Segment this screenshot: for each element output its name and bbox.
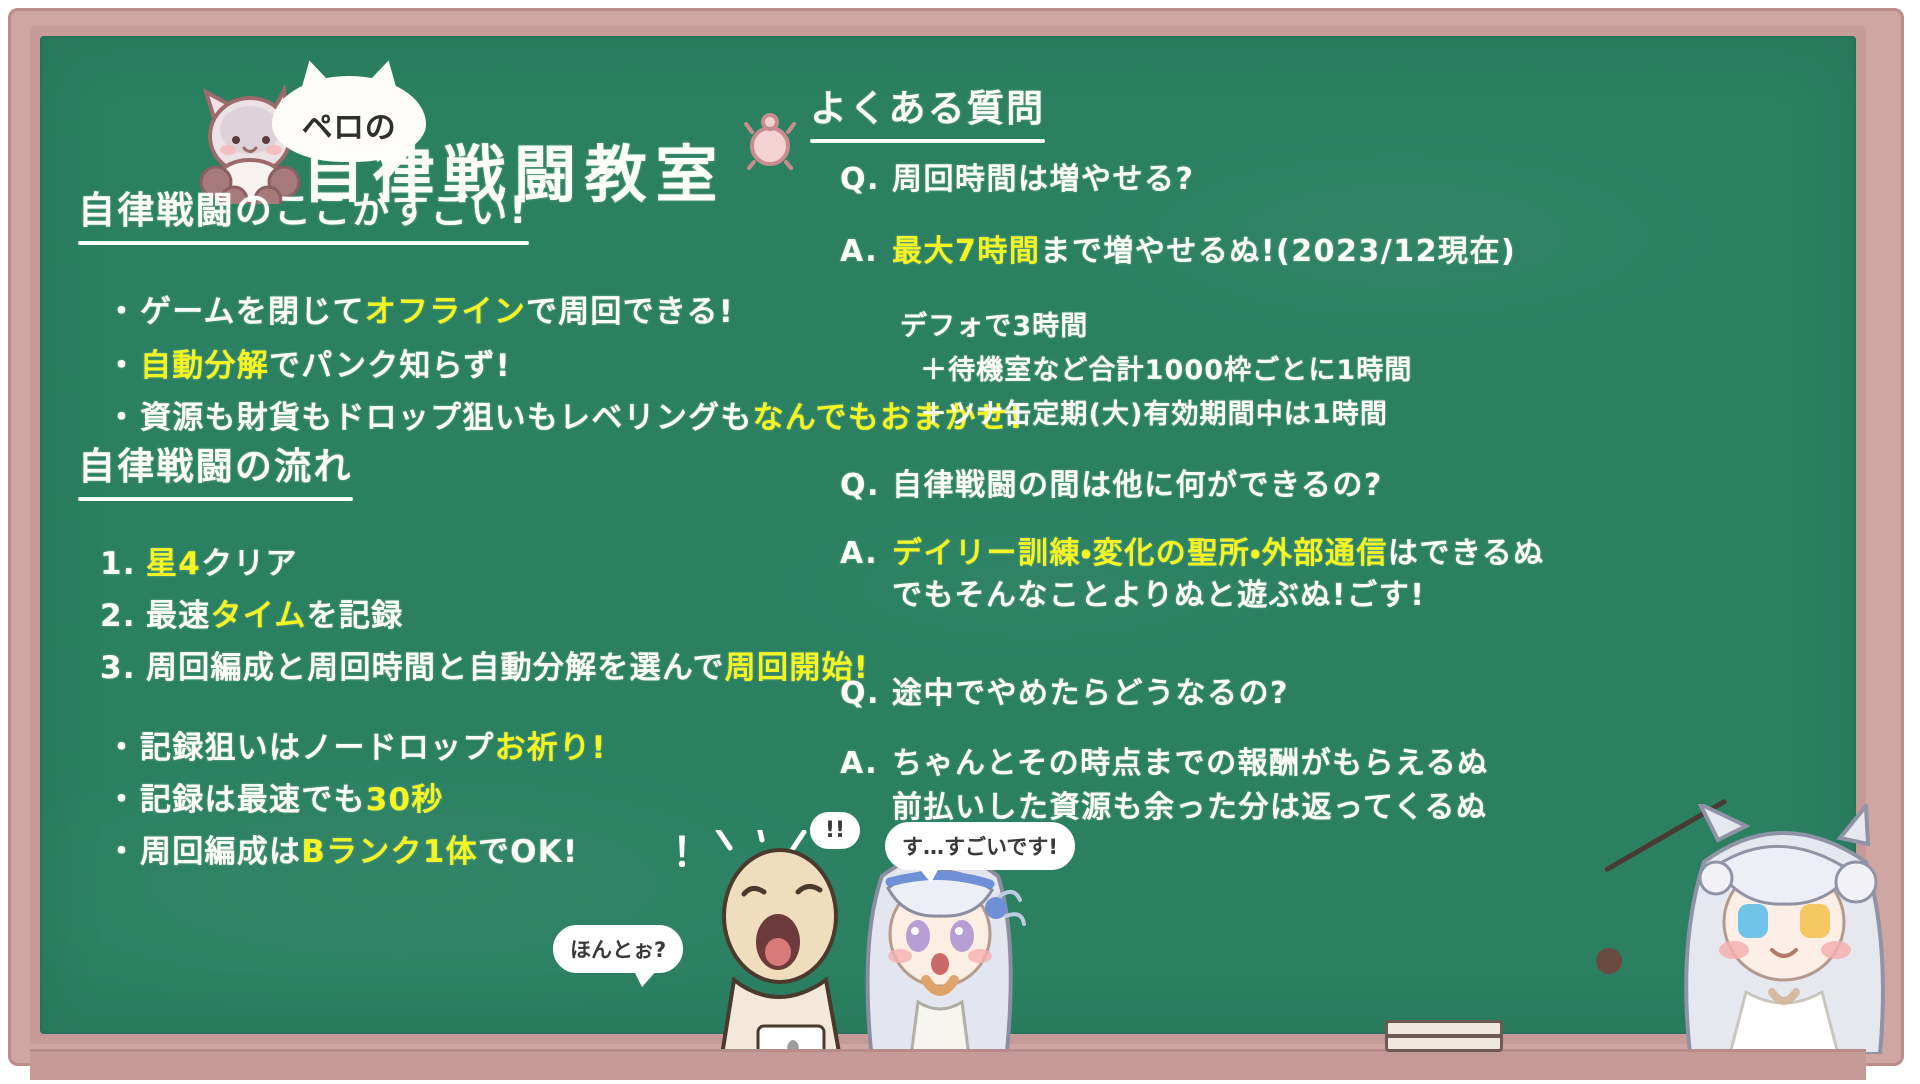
list-item: ・周回編成はBランク1体でOK! bbox=[106, 826, 578, 871]
title-underline bbox=[810, 139, 1045, 143]
text-pre: 記録狙いはノードロップ bbox=[140, 730, 495, 766]
text-highlight: オフライン bbox=[365, 294, 526, 330]
faq-answer: A.最大7時間まで増やせるぬ!(2023/12現在) bbox=[840, 226, 1516, 270]
speech-bubble-exclaim: !! bbox=[810, 812, 860, 849]
answer-note: デフォで3時間 bbox=[900, 304, 1088, 343]
speech-bubble-sugoi: す…すごいです! bbox=[885, 822, 1075, 870]
text-pre: ゲームを閉じて bbox=[140, 294, 365, 330]
text-pre: 資源も財貨もドロップ狙いもレベリングも bbox=[140, 400, 753, 436]
text-pre: 周回編成と周回時間と自動分解を選んで bbox=[146, 650, 725, 686]
bullet-marker: ・ bbox=[106, 826, 140, 871]
text-post: まで増やせるぬ!(2023/12現在) bbox=[1040, 234, 1516, 269]
answer-tag: A. bbox=[840, 234, 892, 269]
question-text: 自律戦闘の間は他に何ができるの? bbox=[892, 468, 1383, 503]
faq-answer-line2: でもそんなことよりぬと遊ぶぬ!ごす! bbox=[892, 570, 1425, 614]
faq-title-text: よくある質問 bbox=[810, 87, 1045, 130]
text-pre: 最速 bbox=[146, 598, 210, 634]
faq-answer-line2: 前払いした資源も余った分は返ってくるぬ bbox=[892, 782, 1488, 826]
answer-tag: A. bbox=[840, 536, 892, 571]
question-text: 途中でやめたらどうなるの? bbox=[892, 676, 1289, 711]
text-pre: 周回編成は bbox=[140, 834, 301, 870]
text-post: クリア bbox=[201, 546, 298, 582]
number-marker: 2. bbox=[100, 598, 146, 634]
list-item: ・記録狙いはノードロップお祈り! bbox=[106, 722, 607, 767]
chalkboard-eraser bbox=[1385, 1020, 1503, 1052]
text-highlight: デイリー訓練・変化の聖所・外部通信 bbox=[892, 536, 1388, 571]
text-highlight: Bランク1体 bbox=[301, 834, 478, 870]
left-section1-title-text: 自律戦闘のここがすごい! bbox=[78, 189, 529, 232]
sensei-character bbox=[1660, 804, 1910, 1054]
text-pre: 記録は最速でも bbox=[140, 782, 366, 818]
left-section2-title-text: 自律戦闘の流れ bbox=[78, 445, 353, 488]
list-item: ・資源も財貨もドロップ狙いもレベリングもなんでもおまかせ! bbox=[106, 392, 1024, 437]
chalkboard-poster: ペロの 自律戦闘教室 自律戦闘のここがすごい! ・ゲームを閉じてオフラインで周回… bbox=[0, 0, 1920, 1080]
bullet-marker: ・ bbox=[106, 392, 140, 437]
answer-tag: A. bbox=[840, 746, 892, 781]
faq-answer: A.デイリー訓練・変化の聖所・外部通信はできるぬ bbox=[840, 528, 1545, 572]
chalk-tray bbox=[30, 1049, 1866, 1080]
number-marker: 3. bbox=[100, 650, 146, 686]
answer-note: ＋待機室など合計1000枠ごとに1時間 bbox=[920, 348, 1412, 387]
list-item: ・ゲームを閉じてオフラインで周回できる! bbox=[106, 286, 734, 331]
faq-question: Q.自律戦闘の間は他に何ができるの? bbox=[840, 460, 1383, 504]
text-highlight: 最大7時間 bbox=[892, 234, 1040, 269]
text-post: を記録 bbox=[307, 598, 404, 634]
text-highlight: 星4 bbox=[146, 546, 201, 582]
question-text: 周回時間は増やせる? bbox=[892, 162, 1194, 197]
question-tag: Q. bbox=[840, 676, 892, 711]
text-highlight: 自動分解 bbox=[140, 348, 269, 384]
alarm-clock-doodle bbox=[740, 108, 800, 170]
left-section1-title: 自律戦闘のここがすごい! bbox=[78, 180, 529, 245]
text-post: でOK! bbox=[478, 834, 578, 870]
bullet-marker: ・ bbox=[106, 722, 140, 767]
text-post: でパンク知らず! bbox=[269, 348, 511, 384]
pointer-stick-tip bbox=[1596, 948, 1622, 974]
faq-title: よくある質問 bbox=[810, 78, 1045, 143]
list-item: 3.周回編成と周回時間と自動分解を選んで周回開始! bbox=[100, 642, 869, 687]
number-marker: 1. bbox=[100, 546, 146, 582]
faq-answer: A.ちゃんとその時点までの報酬がもらえるぬ bbox=[840, 738, 1489, 782]
list-item: 2.最速タイムを記録 bbox=[100, 590, 403, 635]
list-item: ・自動分解でパンク知らず! bbox=[106, 340, 511, 385]
title-underline bbox=[78, 241, 529, 245]
question-tag: Q. bbox=[840, 468, 892, 503]
list-item: 1.星4クリア bbox=[100, 538, 298, 583]
faq-question: Q.途中でやめたらどうなるの? bbox=[840, 668, 1289, 712]
title-underline bbox=[78, 497, 353, 501]
text-highlight: お祈り! bbox=[495, 730, 607, 766]
speech-bubble-hontou: ほんとぉ? bbox=[553, 925, 683, 973]
bullet-marker: ・ bbox=[106, 340, 140, 385]
left-section2-title: 自律戦闘の流れ bbox=[78, 436, 353, 501]
text-highlight: 30秒 bbox=[366, 782, 444, 818]
bullet-marker: ・ bbox=[106, 286, 140, 331]
text-post: で周回できる! bbox=[526, 294, 734, 330]
text-post: はできるぬ bbox=[1388, 536, 1545, 571]
text-pre: ちゃんとその時点までの報酬がもらえるぬ bbox=[892, 746, 1489, 781]
question-tag: Q. bbox=[840, 162, 892, 197]
bullet-marker: ・ bbox=[106, 774, 140, 819]
faq-question: Q.周回時間は増やせる? bbox=[840, 154, 1194, 198]
text-highlight: タイム bbox=[210, 598, 306, 634]
list-item: ・記録は最速でも30秒 bbox=[106, 774, 444, 819]
answer-note: ＋ツナ缶定期(大)有効期間中は1時間 bbox=[920, 392, 1388, 431]
